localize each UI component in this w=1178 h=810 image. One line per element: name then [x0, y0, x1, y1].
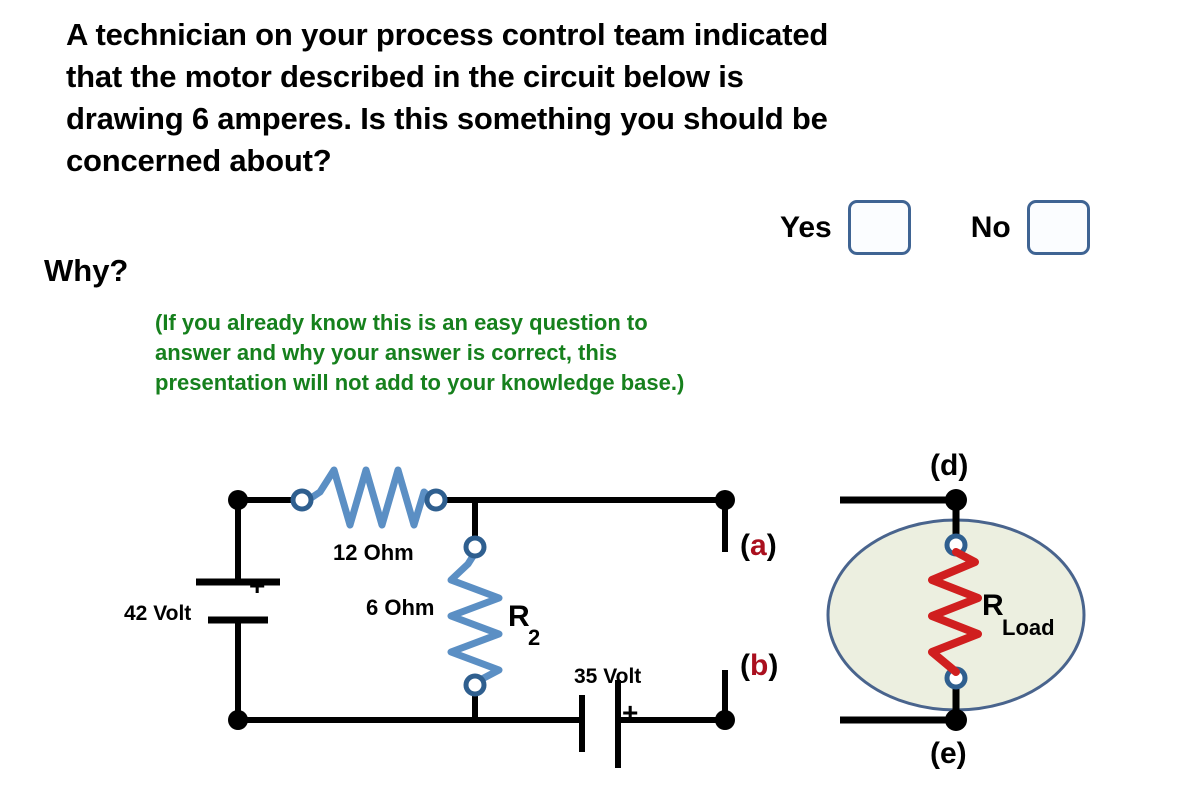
resistor-12ohm-right-terminal [427, 491, 445, 509]
junction-dot-e [945, 709, 967, 731]
circuit-diagram: 12 Ohm 6 Ohm R 2 42 Volt + 35 Volt + (a)… [0, 430, 1178, 810]
resistor-12ohm [293, 470, 445, 525]
yes-label: Yes [780, 213, 832, 243]
junction-dot-d [945, 489, 967, 511]
source-35v-label: 35 Volt [574, 665, 641, 688]
resistor-12ohm-zigzag [308, 470, 433, 525]
load-resistor-subscript: Load [1002, 615, 1055, 640]
junction-dot-top-right [715, 490, 735, 510]
resistor-12ohm-label: 12 Ohm [333, 540, 414, 565]
terminal-b-label: (b) [740, 649, 778, 682]
resistor-6ohm-zigzag [451, 553, 499, 680]
resistor-r2-name: R [508, 600, 530, 633]
resistor-6ohm-bottom-terminal [466, 676, 484, 694]
terminal-d-label: (d) [930, 449, 968, 482]
left-circuit: 12 Ohm 6 Ohm R 2 42 Volt + 35 Volt + (a)… [124, 470, 778, 768]
no-label: No [971, 213, 1011, 243]
no-checkbox[interactable] [1027, 200, 1090, 255]
junction-dot-top-left [228, 490, 248, 510]
resistor-6ohm-label: 6 Ohm [366, 595, 434, 620]
load-resistor-name: R [982, 589, 1004, 622]
resistor-6ohm [451, 538, 499, 694]
resistor-r2-subscript: 2 [528, 625, 540, 650]
source-35v-plus-sign: + [622, 697, 638, 728]
why-label: Why? [44, 253, 128, 289]
yes-checkbox[interactable] [848, 200, 911, 255]
answer-row: Yes No [780, 200, 1090, 255]
resistor-12ohm-left-terminal [293, 491, 311, 509]
question-text: A technician on your process control tea… [66, 14, 1096, 182]
parenthetical-note: (If you already know this is an easy que… [155, 308, 915, 398]
junction-dot-bottom-left [228, 710, 248, 730]
source-42v-label: 42 Volt [124, 602, 191, 625]
terminal-e-label: (e) [930, 737, 967, 770]
terminal-a-label: (a) [740, 529, 777, 562]
junction-dot-bottom-right [715, 710, 735, 730]
answer-option-no: No [971, 200, 1090, 255]
resistor-6ohm-top-terminal [466, 538, 484, 556]
load-circuit: R Load (d) (e) [828, 449, 1084, 770]
source-42v-plus-sign: + [249, 570, 265, 601]
answer-option-yes: Yes [780, 200, 911, 255]
